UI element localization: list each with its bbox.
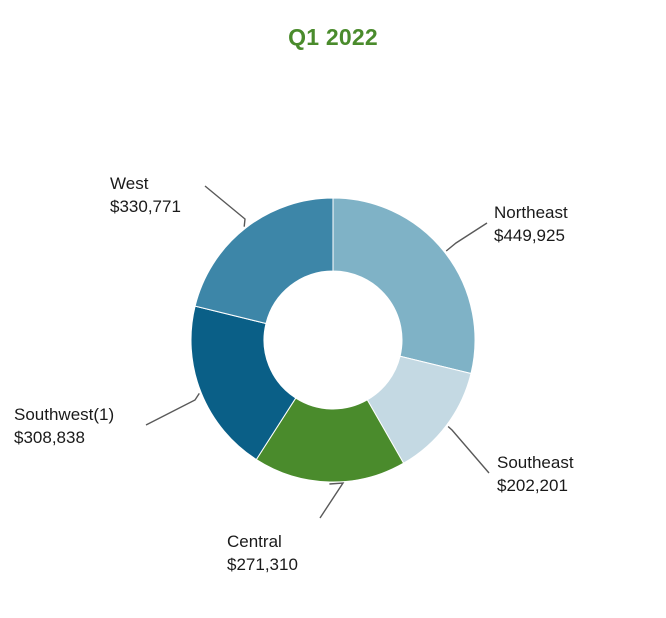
slice-label-southeast: Southeast $202,201 — [497, 451, 574, 497]
donut-slices — [191, 198, 475, 482]
slice-label-southwest-name: Southwest(1) — [14, 403, 114, 426]
slice-label-central-value: $271,310 — [227, 553, 298, 576]
leader-line-northeast — [446, 223, 487, 251]
slice-label-southeast-value: $202,201 — [497, 474, 574, 497]
slice-label-northeast-name: Northeast — [494, 201, 568, 224]
slice-label-southeast-name: Southeast — [497, 451, 574, 474]
leader-line-southwest-1 — [146, 393, 199, 425]
slice-label-northeast-value: $449,925 — [494, 224, 568, 247]
leader-line-west — [205, 186, 245, 227]
slice-label-west: West $330,771 — [110, 172, 181, 218]
slice-label-west-name: West — [110, 172, 181, 195]
donut-slice-west[interactable] — [195, 198, 333, 324]
donut-chart-figure: Q1 2022 Northeast $449,925 Southeast $20… — [0, 0, 666, 618]
slice-label-southwest-value: $308,838 — [14, 426, 114, 449]
leader-line-southeast — [448, 427, 489, 474]
slice-label-central-name: Central — [227, 530, 298, 553]
slice-label-west-value: $330,771 — [110, 195, 181, 218]
slice-label-southwest: Southwest(1) $308,838 — [14, 403, 114, 449]
donut-chart-svg — [0, 0, 666, 618]
slice-label-central: Central $271,310 — [227, 530, 298, 576]
donut-slice-northeast[interactable] — [333, 198, 475, 373]
slice-label-northeast: Northeast $449,925 — [494, 201, 568, 247]
leader-line-central — [320, 483, 343, 518]
